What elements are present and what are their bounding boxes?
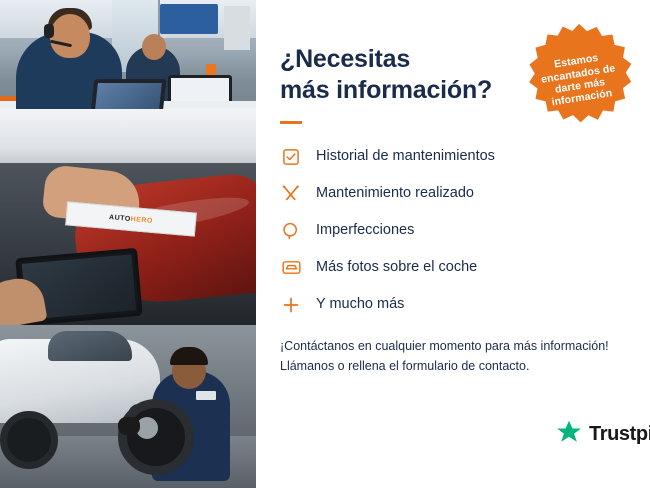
- list-item: Imperfecciones: [280, 220, 624, 242]
- photo1-colleague-head: [142, 34, 166, 60]
- feature-label: Historial de mantenimientos: [316, 148, 495, 165]
- photo1-desk-front: [0, 109, 256, 163]
- photo-column: AUTOHERO: [0, 0, 256, 488]
- photo3-windshield: [48, 331, 132, 361]
- tools-cross-icon: [280, 183, 302, 205]
- photo3-mechanic-glove: [118, 417, 140, 435]
- closing-line-1: ¡Contáctanos en cualquier momento para m…: [280, 336, 624, 357]
- headline-line-2: más información?: [280, 75, 510, 106]
- headset-icon: [44, 24, 54, 38]
- photo-inspection-ruler-on-red-car: AUTOHERO: [0, 163, 256, 325]
- headline-line-1: ¿Necesitas: [280, 45, 410, 73]
- list-item: Mantenimiento realizado: [280, 183, 624, 205]
- photo1-agent-head: [50, 14, 90, 58]
- plus-icon: [280, 294, 302, 316]
- photo1-blue-banner: [160, 4, 218, 34]
- list-item: Más fotos sobre el coche: [280, 257, 624, 279]
- photo-mechanic-changing-wheel: [0, 325, 256, 488]
- photo3-uniform-badge: [196, 391, 216, 400]
- feature-list: Historial de mantenimientos Mantenimient…: [280, 146, 624, 316]
- badge-text: Estamos encantados de darte más informac…: [519, 47, 639, 114]
- content-panel: ¿Necesitas más información? Historial de…: [256, 0, 650, 488]
- title-underline-rule: [280, 121, 302, 124]
- autohero-wordmark: AUTOHERO: [109, 214, 153, 225]
- list-item: Historial de mantenimientos: [280, 146, 624, 168]
- promo-card: AUTOHERO ¿Necesitas más inf: [0, 0, 650, 488]
- trustpilot-star-icon: [556, 419, 582, 450]
- closing-line-2: Llámanos o rellena el formulario de cont…: [280, 356, 624, 377]
- feature-label: Más fotos sobre el coche: [316, 259, 477, 276]
- photo-dealership-agent-at-desk: [0, 0, 256, 163]
- closing-text: ¡Contáctanos en cualquier momento para m…: [280, 336, 624, 377]
- trustpilot-block: Trustpilot Excelente: [556, 409, 650, 460]
- status-badge: Estamos encantados de darte más informac…: [522, 22, 636, 136]
- photo3-front-wheel: [0, 411, 58, 469]
- clipboard-check-icon: [280, 146, 302, 168]
- feature-label: Imperfecciones: [316, 222, 414, 239]
- photo3-loose-wheel: [118, 399, 194, 475]
- magnifier-icon: [280, 220, 302, 242]
- trustpilot-wordmark: Trustpilot: [589, 423, 650, 446]
- page-title: ¿Necesitas más información?: [280, 44, 510, 107]
- photo1-wall-panel: [224, 6, 250, 50]
- list-item: Y mucho más: [280, 294, 624, 316]
- camera-car-icon: [280, 257, 302, 279]
- feature-label: Y mucho más: [316, 296, 404, 313]
- trustpilot-logo: Trustpilot: [556, 419, 650, 450]
- feature-label: Mantenimiento realizado: [316, 185, 474, 202]
